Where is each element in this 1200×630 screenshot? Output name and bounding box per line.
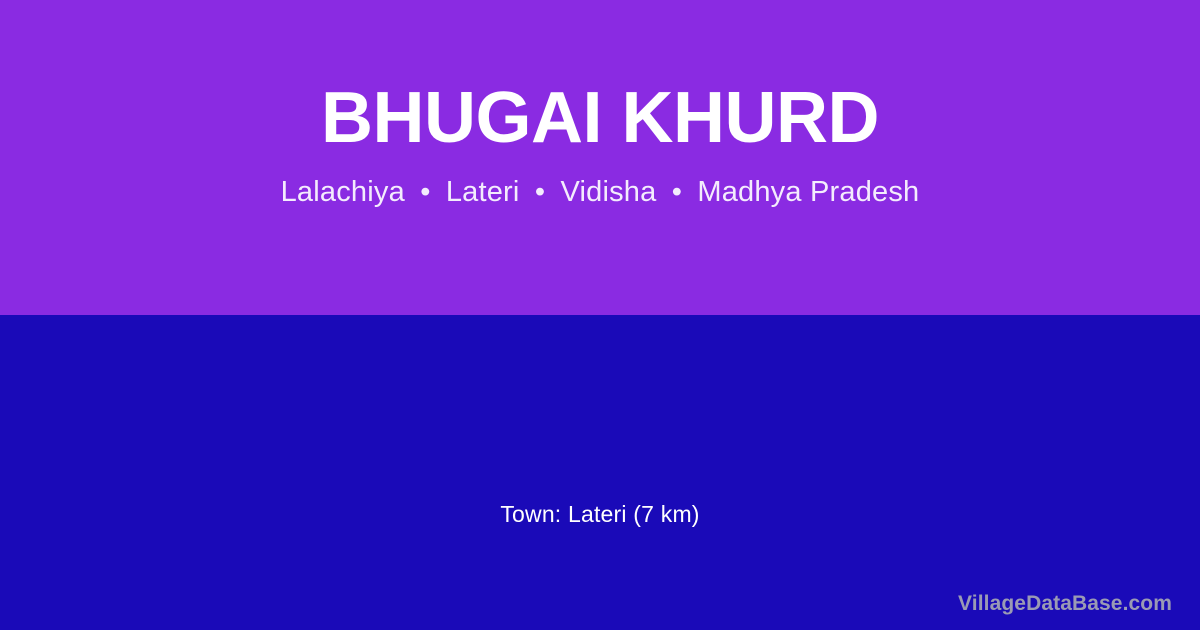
- breadcrumb-item-state: Madhya Pradesh: [697, 176, 919, 208]
- village-info-card: BHUGAI KHURD Lalachiya • Lateri • Vidish…: [0, 0, 1200, 630]
- breadcrumb: Lalachiya • Lateri • Vidisha • Madhya Pr…: [281, 176, 920, 209]
- breadcrumb-item-block: Lateri: [446, 176, 520, 208]
- page-title: BHUGAI KHURD: [321, 82, 879, 154]
- site-watermark: VillageDataBase.com: [958, 591, 1172, 616]
- body-panel: Town: Lateri (7 km) VillageDataBase.com: [0, 315, 1200, 630]
- breadcrumb-separator-icon: •: [528, 176, 552, 208]
- header-banner: BHUGAI KHURD Lalachiya • Lateri • Vidish…: [0, 0, 1200, 315]
- breadcrumb-item-district: Vidisha: [560, 176, 656, 208]
- breadcrumb-separator-icon: •: [413, 176, 437, 208]
- breadcrumb-separator-icon: •: [665, 176, 689, 208]
- breadcrumb-item-panchayat: Lalachiya: [281, 176, 405, 208]
- nearest-town-info: Town: Lateri (7 km): [0, 501, 1200, 529]
